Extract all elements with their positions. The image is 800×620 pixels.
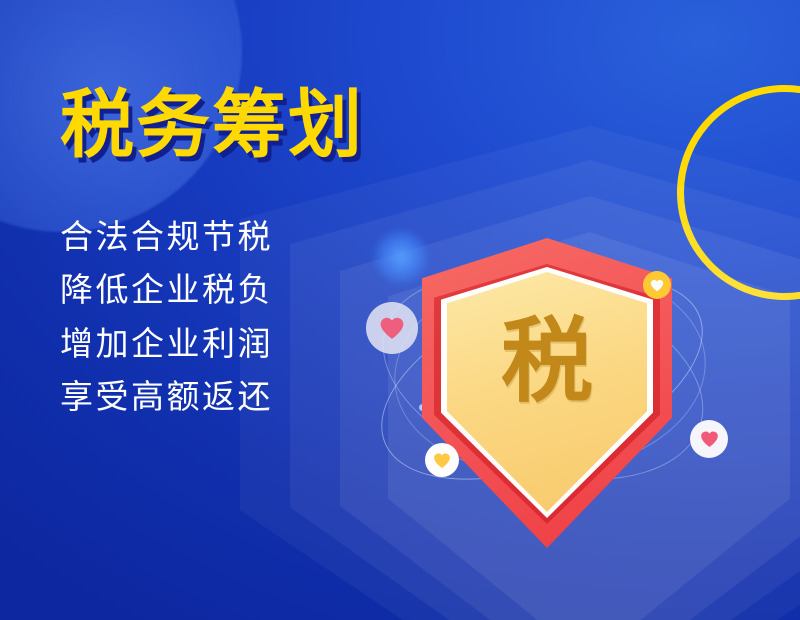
tax-planning-banner: 税 税务筹划 合法合规 [0,0,800,620]
heart-icon [433,452,451,469]
page-title: 税务筹划 [60,86,410,166]
yellow-arc-decoration [0,485,163,620]
shield-tax-character: 税 [422,316,672,408]
benefit-item-4: 享受高额返还 [60,370,410,423]
banner-text-block: 税务筹划 合法合规节税 降低企业税负 增加企业利润 享受高额返还 [60,86,410,424]
benefit-list: 合法合规节税 降低企业税负 增加企业利润 享受高额返还 [60,210,410,424]
benefit-item-3: 增加企业利润 [60,317,410,370]
heart-icon [650,279,664,292]
heart-icon [700,430,719,448]
heart-badge-top [643,271,671,299]
heart-badge-right [690,420,728,458]
heart-badge-bottom [425,443,459,477]
benefit-item-1: 合法合规节税 [60,210,410,263]
tax-shield-illustration: 税 [422,238,672,548]
benefit-item-2: 降低企业税负 [60,263,410,316]
